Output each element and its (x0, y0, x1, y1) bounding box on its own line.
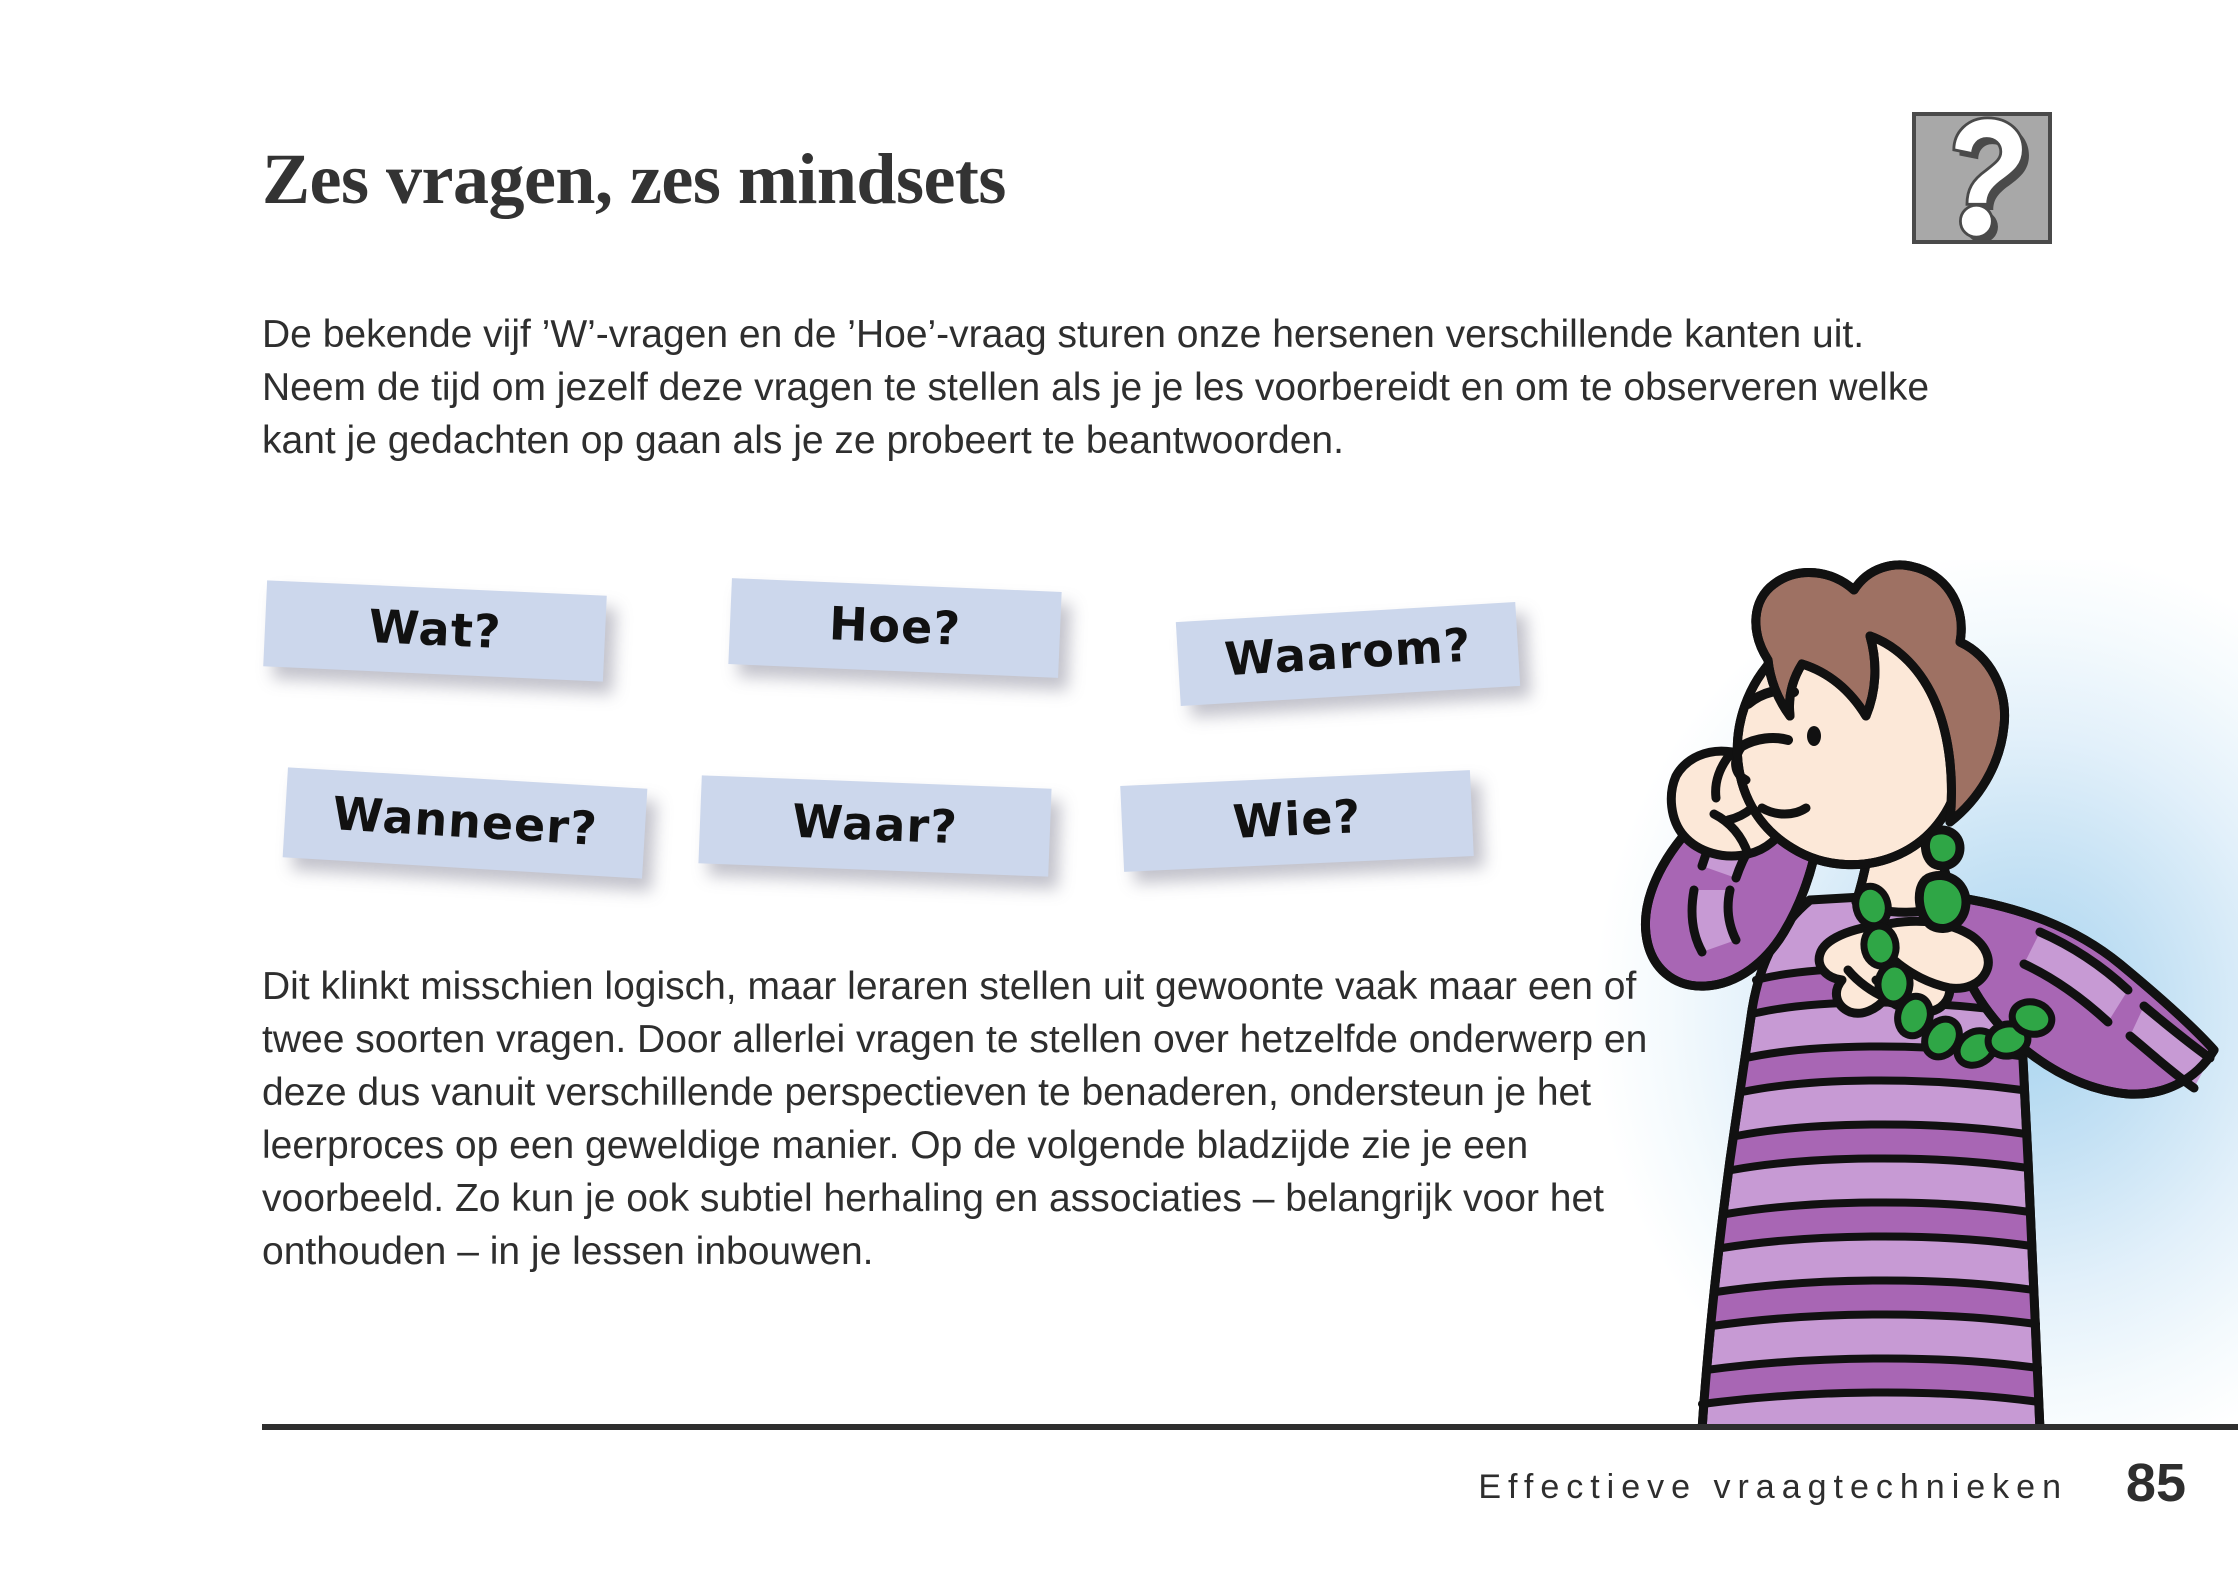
question-card-wie: Wie? (1120, 770, 1474, 872)
question-card-label: Wie? (1232, 789, 1363, 849)
question-cards-group: Wat? Hoe? Waarom? Wanneer? Waar? Wie? (0, 0, 2238, 1588)
question-card-hoe: Hoe? (728, 578, 1061, 678)
question-card-wanneer: Wanneer? (283, 767, 648, 878)
footer-chapter-title: Effectieve vraagtechnieken (1478, 1468, 2068, 1507)
question-card-label: Waarom? (1223, 618, 1473, 687)
question-card-label: Wanneer? (331, 786, 599, 856)
question-card-waar: Waar? (698, 775, 1051, 876)
page-number: 85 (2126, 1452, 2186, 1514)
question-card-waarom: Waarom? (1176, 602, 1520, 706)
book-page: Zes vragen, zes mindsets De bekende vijf… (0, 0, 2238, 1588)
body-paragraph: Dit klinkt misschien logisch, maar lerar… (262, 960, 1662, 1278)
question-card-label: Waar? (791, 794, 959, 854)
question-card-wat: Wat? (263, 580, 607, 681)
question-card-label: Wat? (368, 599, 503, 659)
footer-divider (262, 1424, 2238, 1430)
question-card-label: Hoe? (828, 596, 962, 655)
